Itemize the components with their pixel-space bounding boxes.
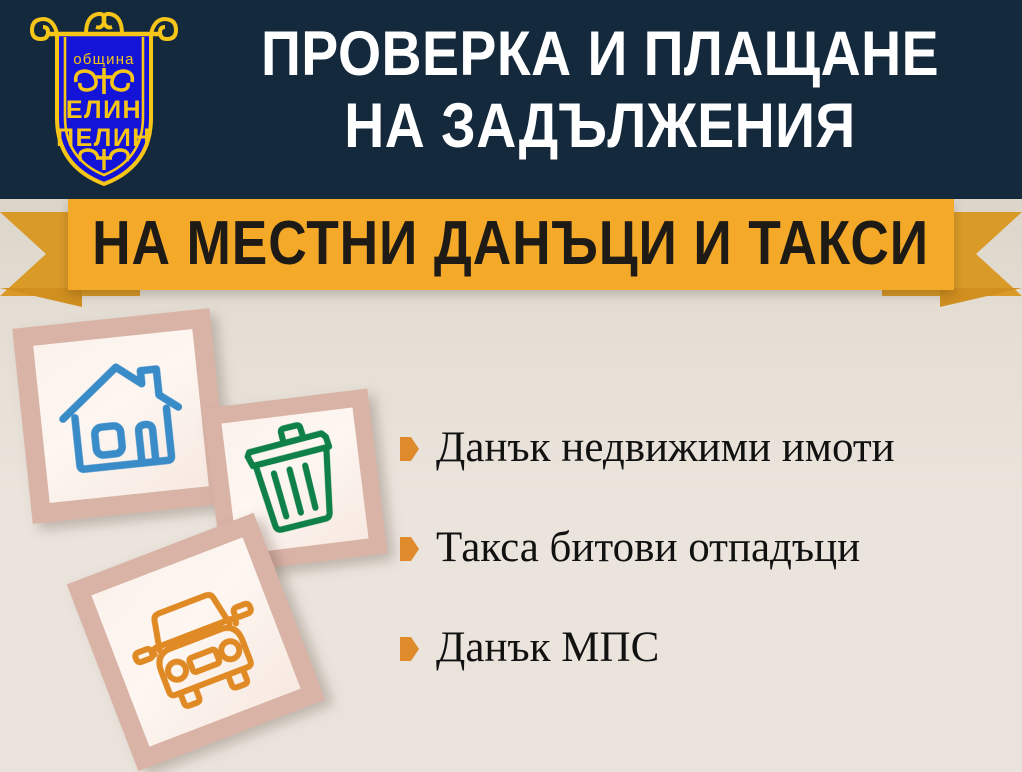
list-item-label: Такса битови отпадъци: [436, 525, 860, 571]
list-item[interactable]: Такса битови отпадъци: [400, 525, 1010, 571]
header-bar: община ЕЛИН ПЕЛИН ПРОВ: [0, 0, 1022, 199]
title-line-1: ПРОВЕРКА И ПЛАЩАНЕ: [261, 19, 939, 89]
municipality-crest: община ЕЛИН ПЕЛИН: [24, 6, 184, 191]
list-item-label: Данък недвижими имоти: [436, 425, 895, 471]
arrow-bullet-icon: [400, 437, 419, 461]
list-item-label: Данък МПС: [436, 625, 659, 671]
stamp-paper-property: [33, 329, 209, 503]
house-icon: [33, 329, 209, 503]
crest-label-line1: ЕЛИН: [66, 96, 142, 124]
car-front-icon: [91, 537, 300, 746]
subtitle-ribbon: НА МЕСТНИ ДАНЪЦИ И ТАКСИ: [0, 198, 1022, 313]
title-line-2: НА ЗАДЪЛЖЕНИЯ: [239, 90, 961, 162]
poster-canvas: община ЕЛИН ПЕЛИН ПРОВ: [0, 0, 1022, 772]
arrow-bullet-icon: [400, 637, 419, 661]
list-item[interactable]: Данък недвижими имоти: [400, 425, 1010, 471]
arrow-bullet-icon: [400, 537, 419, 561]
stamp-card-property: [12, 308, 229, 524]
crest-label-small: община: [73, 51, 134, 68]
crest-label-line2: ПЕЛИН: [56, 124, 152, 152]
ribbon-band: НА МЕСТНИ ДАНЪЦИ И ТАКСИ: [68, 198, 954, 290]
crest-icon: община ЕЛИН ПЕЛИН: [24, 6, 184, 191]
stamp-paper-vehicle: [91, 537, 300, 746]
ribbon-label: НА МЕСТНИ ДАНЪЦИ И ТАКСИ: [93, 212, 930, 276]
page-title: ПРОВЕРКА И ПЛАЩАНЕ НА ЗАДЪЛЖЕНИЯ: [239, 18, 961, 162]
service-list: Данък недвижими имоти Такса битови отпад…: [400, 425, 1010, 725]
list-item[interactable]: Данък МПС: [400, 625, 1010, 671]
